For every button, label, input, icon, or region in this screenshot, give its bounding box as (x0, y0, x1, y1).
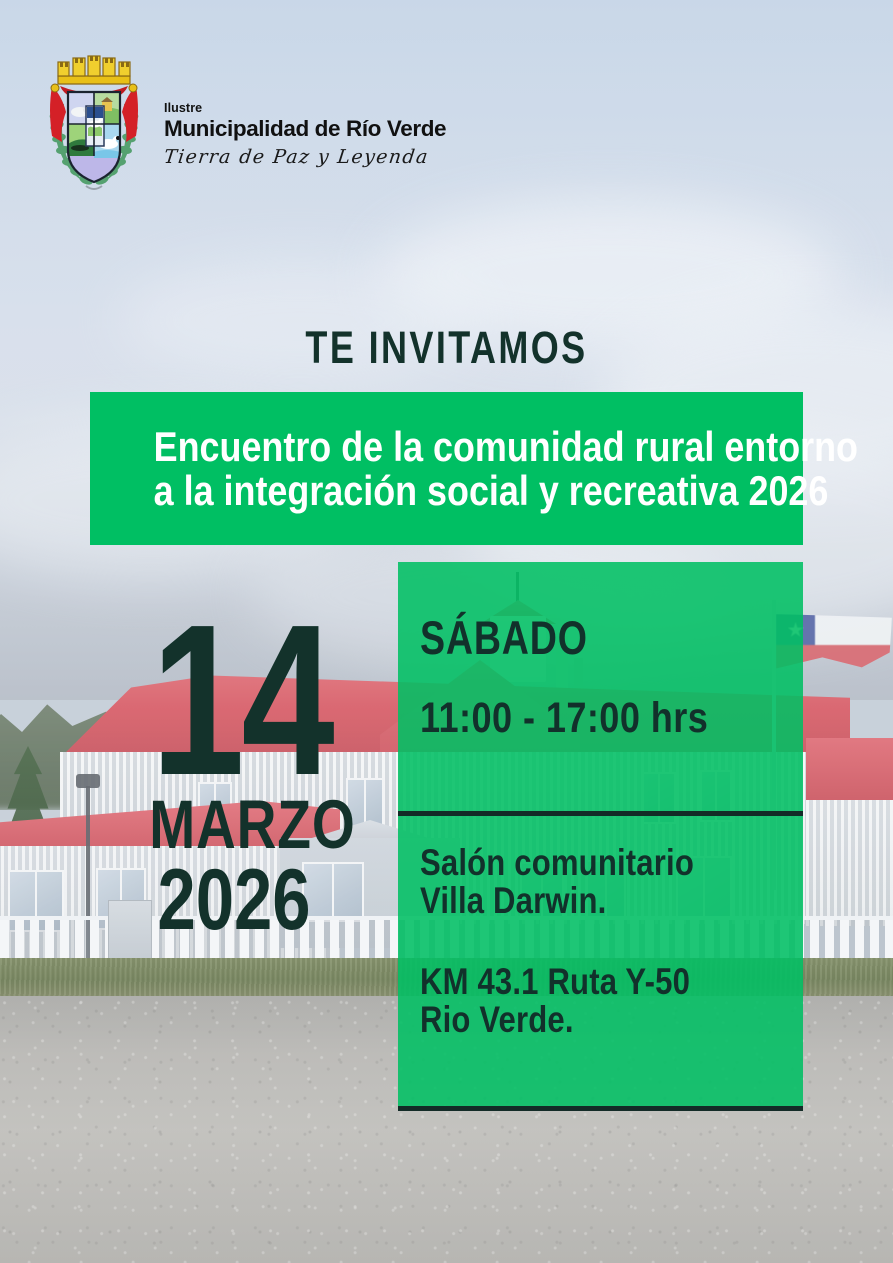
poster-canvas: Ilustre Municipalidad de Río Verde Tierr… (0, 0, 893, 1263)
event-weekday: SÁBADO (420, 614, 709, 661)
event-venue: Salón comunitario Villa Darwin. (420, 844, 723, 919)
event-date-year: 2026 (149, 860, 319, 942)
coat-of-arms-icon (38, 52, 150, 200)
logo-slogan: Tierra de Paz y Leyenda (163, 146, 448, 168)
event-address: KM 43.1 Ruta Y-50 Rio Verde. (420, 963, 723, 1038)
logo-ilustre: Ilustre (164, 102, 446, 116)
event-details-panel: SÁBADO 11:00 - 17:00 hrs Salón comunitar… (398, 562, 803, 1111)
event-title-line-1: Encuentro de la comunidad rural entorno (154, 425, 740, 468)
event-title-line-2: a la integración social y recreativa 202… (154, 469, 740, 512)
event-title-banner: Encuentro de la comunidad rural entorno … (90, 392, 803, 545)
event-date: 14 MARZO 2026 (128, 612, 340, 942)
event-time: 11:00 - 17:00 hrs (420, 697, 723, 740)
event-date-month: MARZO (149, 792, 319, 858)
event-date-day: 14 (151, 612, 316, 788)
invite-kicker: TE INVITAMOS (89, 322, 803, 374)
logo-text-group: Ilustre Municipalidad de Río Verde Tierr… (164, 84, 446, 169)
logo-municipality: Municipalidad de Río Verde (164, 116, 446, 142)
panel-divider (398, 811, 803, 816)
municipality-logo: Ilustre Municipalidad de Río Verde Tierr… (38, 52, 446, 200)
